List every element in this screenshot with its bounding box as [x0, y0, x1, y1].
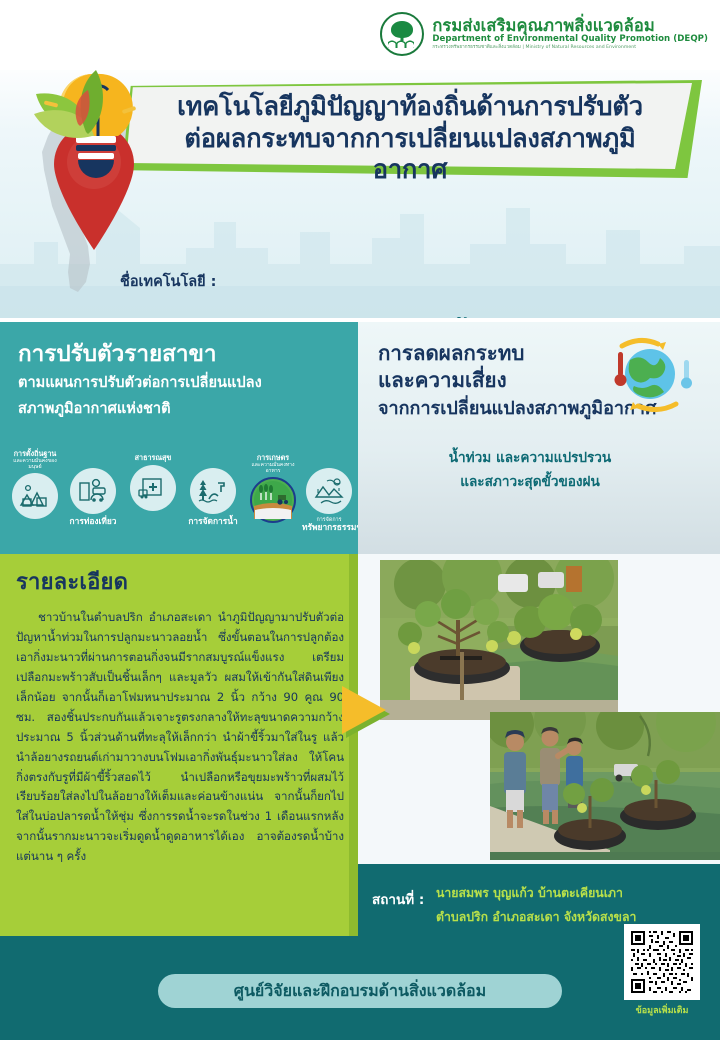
lightbulb-leaf-pin-icon	[22, 64, 172, 254]
qr-code-icon[interactable]	[624, 924, 700, 1000]
sector-panel-heading: การปรับตัวรายสาขา	[18, 340, 342, 369]
sector-adaptation-panel: การปรับตัวรายสาขา ตามแผนการปรับตัวต่อการ…	[0, 322, 358, 554]
main-title-line2: ต่อผลกระทบจากการเปลี่ยนแปลงสภาพภูมิอากาศ	[148, 124, 672, 186]
org-name-thai: กรมส่งเสริมคุณภาพสิ่งแวดล้อม	[432, 17, 708, 35]
place-label: สถานที่ :	[372, 888, 424, 910]
org-name-english: Department of Environmental Quality Prom…	[432, 35, 708, 44]
agriculture-icon	[250, 477, 296, 523]
detail-heading: รายละเอียด	[16, 564, 344, 599]
hero-section: เทคโนโลยีภูมิปัญญาท้องถิ่นด้านการปรับตัว…	[0, 58, 720, 318]
detail-section: รายละเอียด ชาวบ้านในตำบลปริก อำเภอสะเดา …	[0, 554, 358, 936]
place-line1: นายสมพร บุญแก้ว บ้านตะเคียนเภา	[436, 882, 646, 906]
main-title-band: เทคโนโลยีภูมิปัญญาท้องถิ่นด้านการปรับตัว…	[122, 80, 702, 178]
sector-item-tourism[interactable]: การท่องเที่ยว	[66, 468, 120, 527]
natural-resources-icon	[306, 468, 352, 514]
tree-water-seal-icon	[380, 12, 424, 56]
globe-thermometer-icon	[600, 336, 696, 414]
sector-label-agriculture: การเกษตร	[257, 453, 289, 462]
deqp-logo-block: กรมส่งเสริมคุณภาพสิ่งแวดล้อม Department …	[380, 12, 708, 56]
sector-item-public-health[interactable]: สาธารณสุข	[126, 454, 180, 511]
sector-panel-subheading-line1: ตามแผนการปรับตัวต่อการเปลี่ยนแปลง	[18, 372, 342, 395]
qr-caption: ข้อมูลเพิ่มเติม	[620, 1003, 704, 1017]
footer-text: ศูนย์วิจัยและฝึกอบรมด้านสิ่งแวดล้อม	[234, 979, 486, 1004]
impact-reduction-panel: การลดผลกระทบ และความเสี่ยง จากการเปลี่ยน…	[358, 322, 720, 554]
detail-body-text: ชาวบ้านในตำบลปริก อำเภอสะเดา นำภูมิปัญญา…	[16, 608, 344, 867]
floating-lime-tire-planter-photo	[380, 560, 618, 720]
impact-body-line1: น้ำท่วม และความแปรปรวน	[378, 447, 682, 471]
tech-name-value: “ปลูกมะนาว” ลอยน้ำ	[0, 316, 720, 318]
footer-pill[interactable]: ศูนย์วิจัยและฝึกอบรมด้านสิ่งแวดล้อม	[158, 974, 562, 1008]
tech-name-label: ชื่อเทคโนโลยี :	[120, 270, 216, 293]
sector-label-water-management: การจัดการน้ำ	[186, 517, 240, 527]
sector-label-tourism: การท่องเที่ยว	[66, 517, 120, 527]
qr-block[interactable]: ข้อมูลเพิ่มเติม	[620, 924, 704, 1017]
tourism-icon	[70, 468, 116, 514]
sector-item-settlement[interactable]: การตั้งถิ่นฐาน และความมั่นคงของมนุษย์	[8, 450, 62, 519]
sector-panel-subheading-line2: สภาพภูมิอากาศแห่งชาติ	[18, 398, 342, 421]
sector-item-agriculture[interactable]: การเกษตร และความมั่นคงทางอาหาร	[246, 454, 300, 523]
sector-sublabel-settlement: และความมั่นคงของมนุษย์	[8, 458, 62, 470]
sector-item-natural-resources[interactable]: การจัดการ ทรัพยากรธรรมชาติ	[302, 468, 356, 533]
water-management-icon	[190, 468, 236, 514]
sector-label-settlement: การตั้งถิ่นฐาน	[14, 449, 57, 458]
photo-gallery	[358, 554, 720, 864]
org-ministry-line: กระทรวงทรัพยากรธรรมชาติและสิ่งแวดล้อม | …	[432, 46, 708, 51]
villagers-at-pond-photo	[490, 712, 720, 860]
page-header: กรมส่งเสริมคุณภาพสิ่งแวดล้อม Department …	[0, 0, 720, 70]
main-title-line1: เทคโนโลยีภูมิปัญญาท้องถิ่นด้านการปรับตัว	[148, 90, 672, 124]
place-line2: ตำบลปริก อำเภอสะเดา จังหวัดสงขลา	[436, 906, 646, 930]
public-health-icon	[130, 465, 176, 511]
sector-sublabel-agriculture: และความมั่นคงทางอาหาร	[246, 462, 300, 474]
play-arrow-right-icon	[332, 676, 396, 748]
settlement-icon	[12, 473, 58, 519]
sector-item-water-management[interactable]: การจัดการน้ำ	[186, 468, 240, 527]
impact-body-line2: และสภาวะสุดขั้วของฝน	[378, 471, 682, 495]
sector-label-public-health: สาธารณสุข	[135, 453, 172, 462]
sector-icon-row: การตั้งถิ่นฐาน และความมั่นคงของมนุษย์ กา…	[4, 450, 356, 550]
